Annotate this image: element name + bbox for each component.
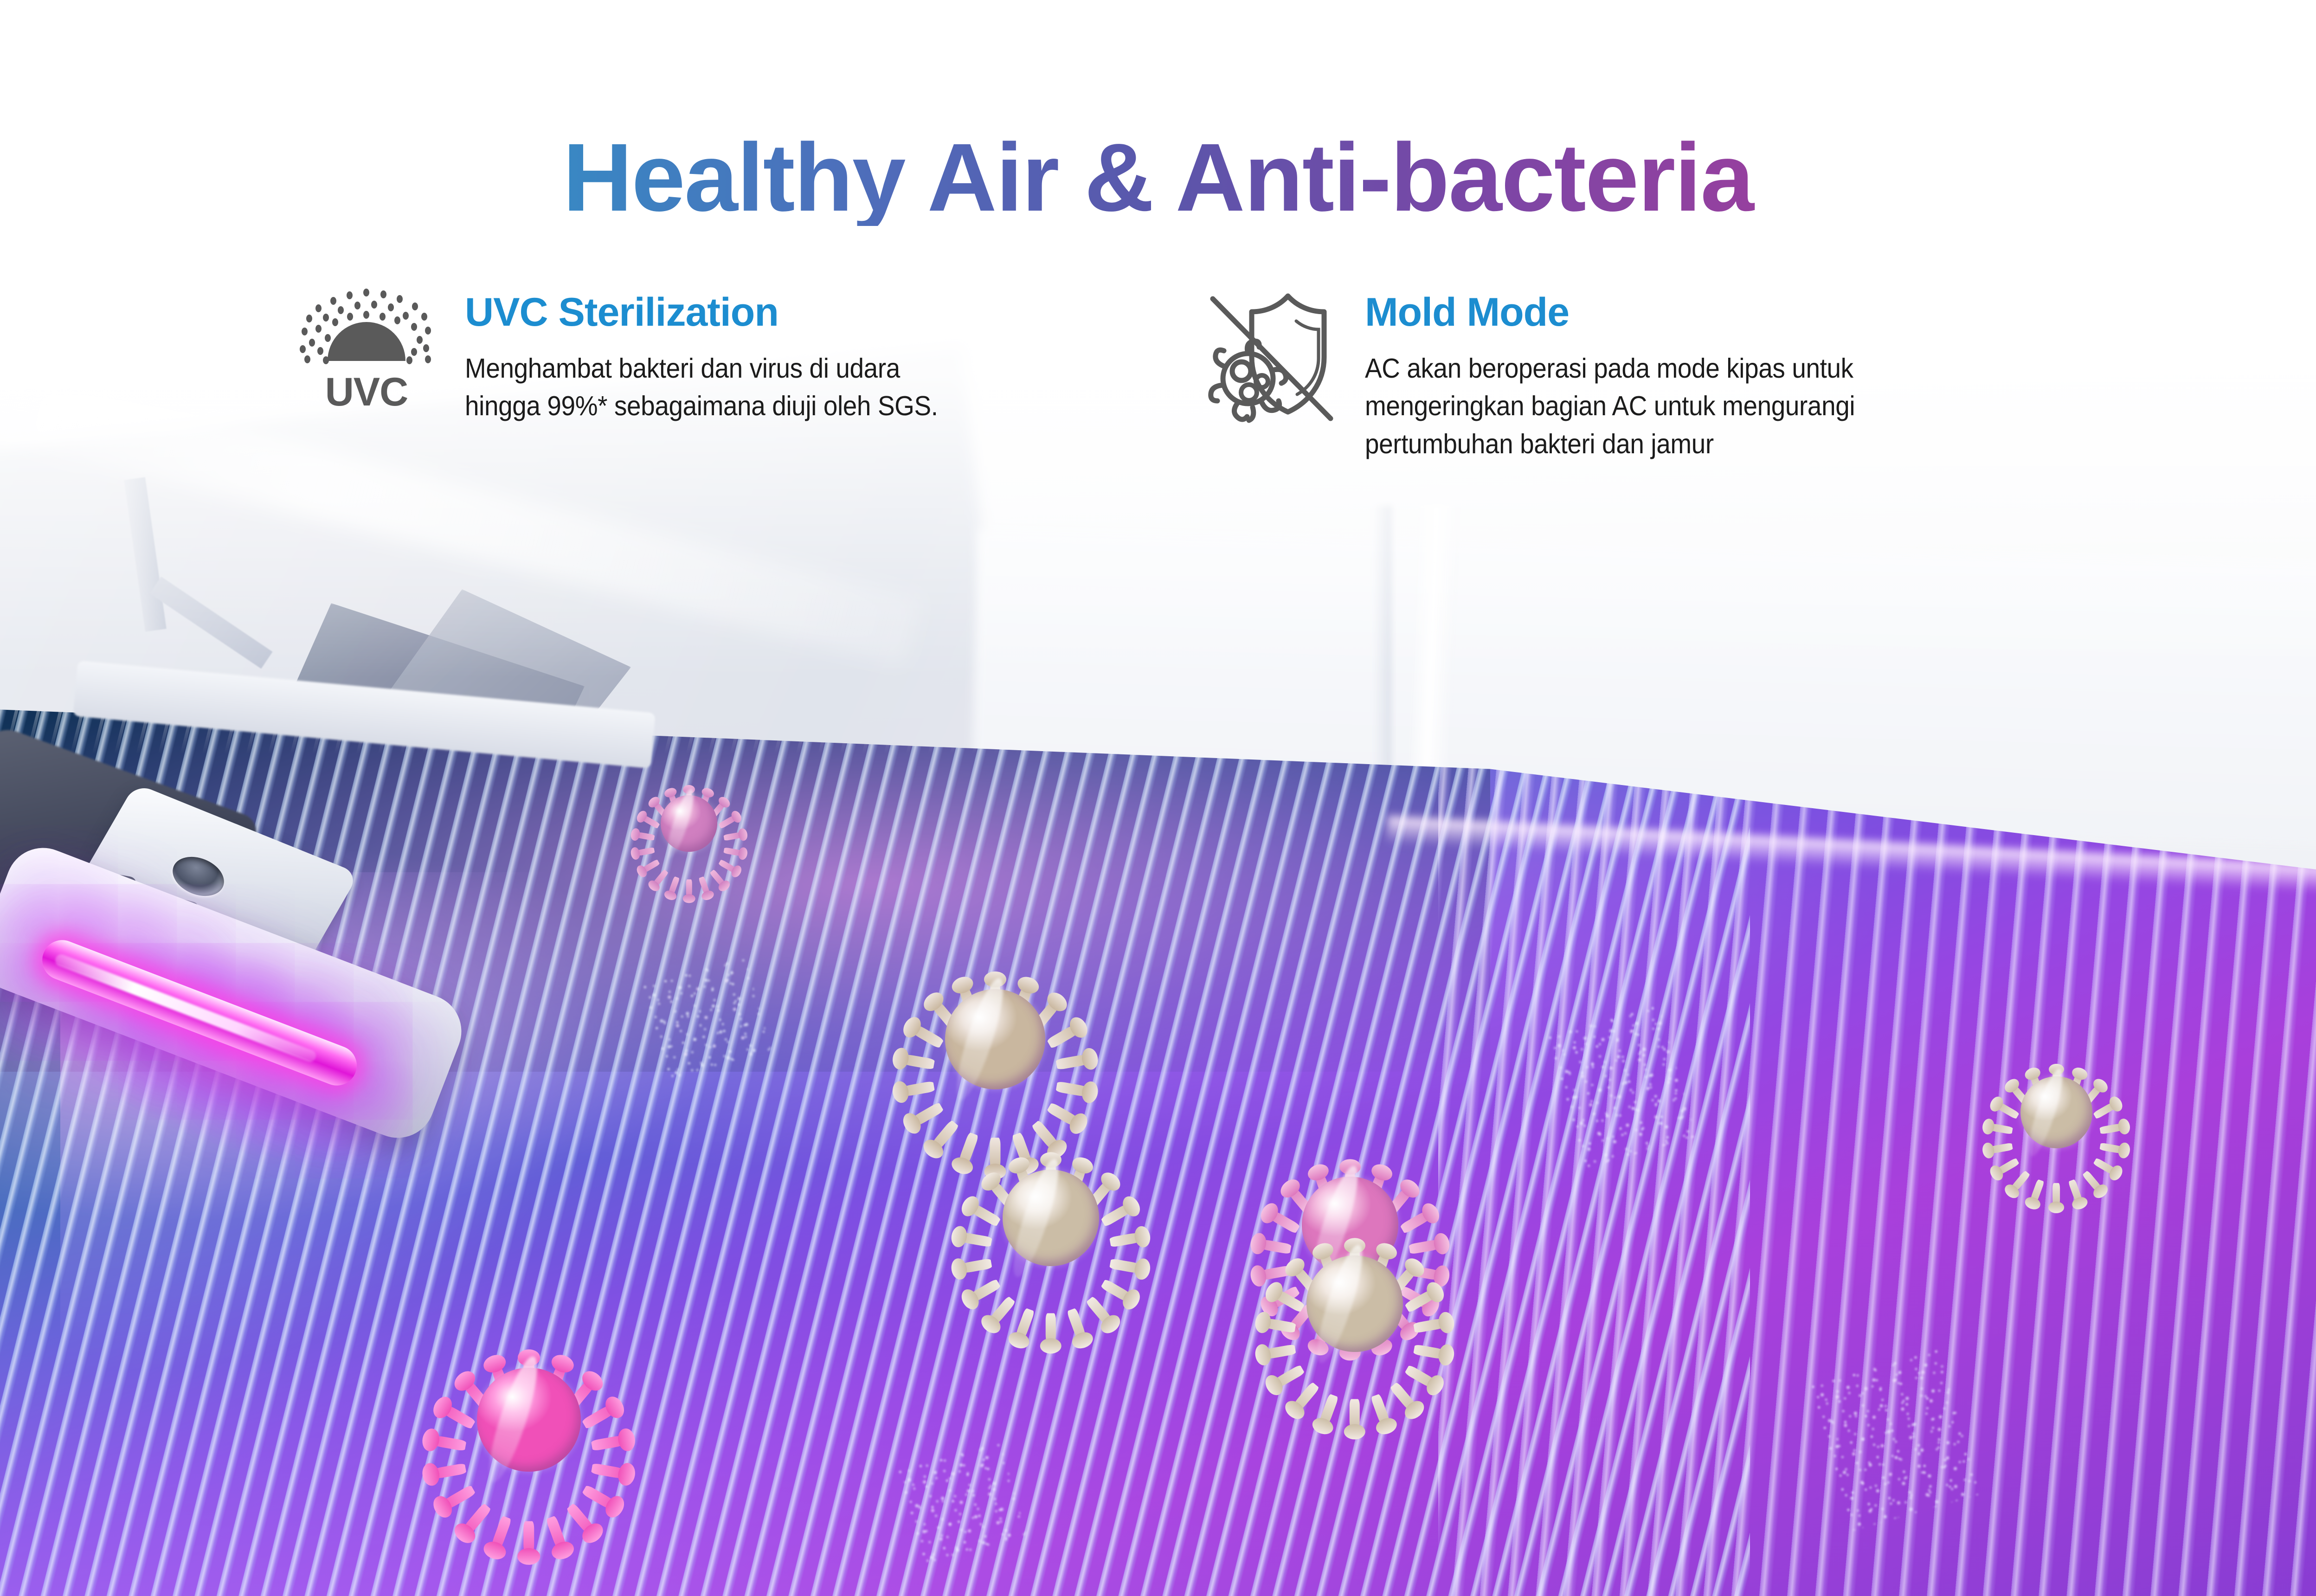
page-title: Healthy Air & Anti-bacteria (0, 129, 2316, 226)
feature-text: UVC Sterilization Menghambat bakteri dan… (465, 288, 1002, 463)
virus-particle (984, 1151, 1118, 1285)
shield-germ-blocked-icon (1197, 288, 1336, 427)
uvc-icon-label: UVC (297, 369, 436, 415)
feature-text: Mold Mode AC akan beroperasi pada mode k… (1365, 288, 1986, 463)
virus-particle (2007, 1062, 2106, 1162)
feature-mold-mode: Mold Mode AC akan beroperasi pada mode k… (1197, 288, 1986, 463)
uvc-lamp-icon: UVC (297, 288, 436, 427)
virus-particle (926, 970, 1065, 1109)
uvc-lamp-module (0, 752, 529, 1216)
promo-banner: Healthy Air & Anti-bacteria (0, 0, 2316, 1596)
virus-particle (457, 1348, 601, 1492)
feature-body: AC akan beroperasi pada mode kipas untuk… (1365, 350, 1942, 463)
feature-uvc-sterilization: UVC UVC Sterilization Menghambat bakteri… (297, 288, 1002, 463)
virus-particle (1287, 1236, 1422, 1371)
feature-list: UVC UVC Sterilization Menghambat bakteri… (297, 288, 2134, 463)
feature-heading: UVC Sterilization (465, 292, 1002, 333)
feature-body: Menghambat bakteri dan virus di udara hi… (465, 350, 965, 425)
feature-heading: Mold Mode (1365, 292, 1986, 333)
virus-particle (650, 784, 728, 863)
